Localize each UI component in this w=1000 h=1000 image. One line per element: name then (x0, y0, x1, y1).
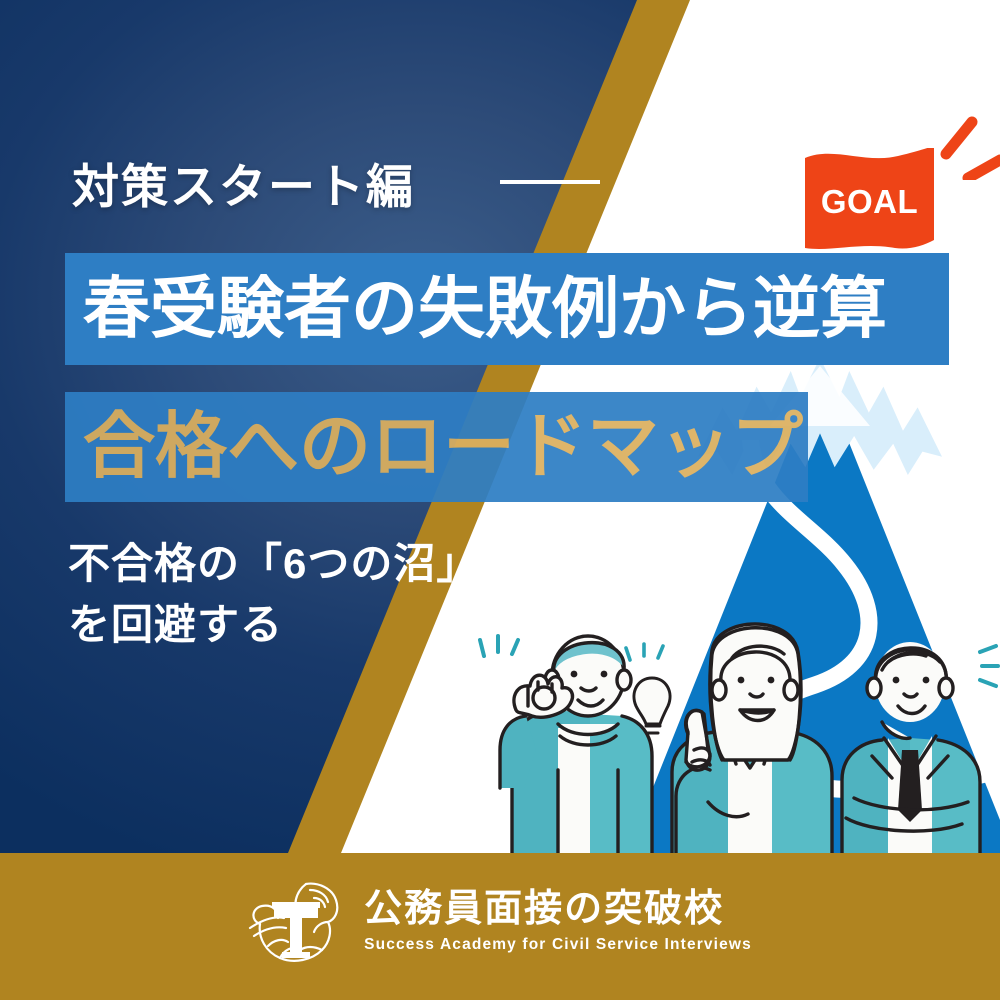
banner-canvas: GOAL (0, 0, 1000, 1000)
logo-name-jp: 公務員面接の突破校 (364, 890, 724, 930)
lede-line-2: を回避する (68, 595, 479, 656)
person-pointing (672, 624, 832, 855)
emphasis-lines-right (980, 646, 998, 686)
lede-line-1: 不合格の「6つの沼」 (68, 534, 479, 595)
people-illustration (440, 610, 1000, 855)
emphasis-lines-left (480, 636, 518, 656)
eyebrow-text: 対策スタート編 (72, 148, 415, 217)
lede-text: 不合格の「6つの沼」 を回避する (68, 534, 479, 656)
headline-primary-text: 春受験者の失敗例から逆算 (83, 276, 887, 343)
eagle-t-emblem-icon (248, 876, 344, 968)
eyebrow-rule (500, 180, 600, 184)
person-suit (842, 642, 980, 855)
headline-band-primary: 春受験者の失敗例から逆算 (65, 253, 949, 365)
logo-text-group: 公務員面接の突破校 Success Academy for Civil Serv… (364, 890, 752, 955)
sparkle-lines-icon (930, 108, 1000, 180)
logo-name-en: Success Academy for Civil Service Interv… (364, 936, 752, 954)
person-ok-sign (500, 636, 652, 855)
goal-label: GOAL (803, 148, 936, 256)
headline-band-secondary: 合格へのロードマップ (65, 392, 808, 502)
goal-flag: GOAL (803, 148, 936, 256)
headline-secondary-text: 合格へのロードマップ (83, 411, 803, 483)
logo-lockup: 公務員面接の突破校 Success Academy for Civil Serv… (0, 872, 1000, 972)
